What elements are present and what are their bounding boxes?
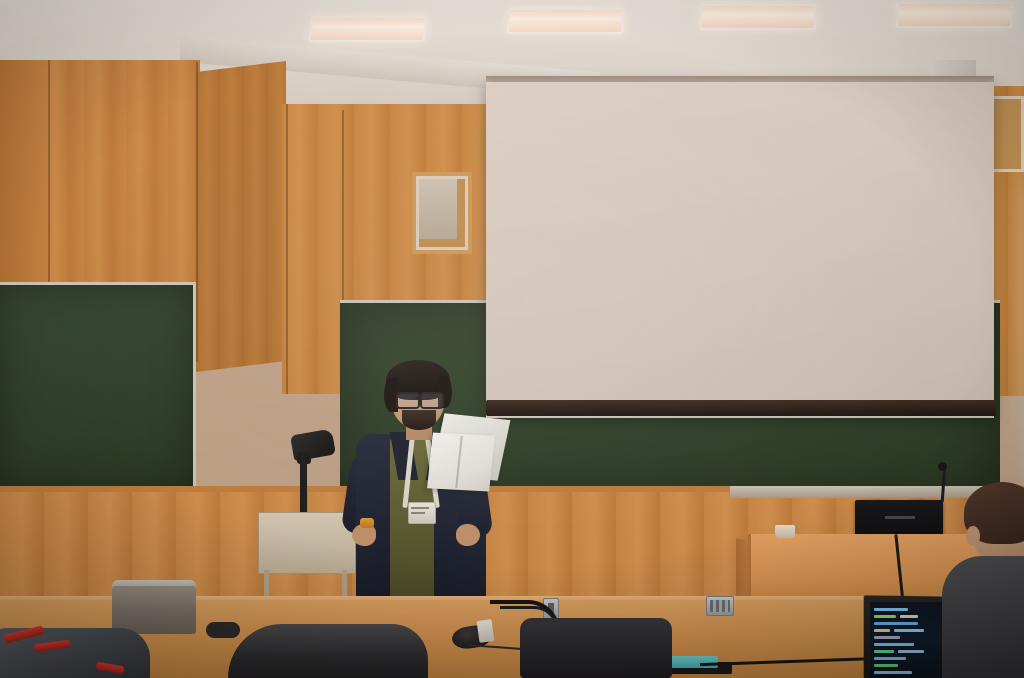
code-line bbox=[874, 608, 908, 611]
code-line bbox=[894, 629, 924, 632]
code-line bbox=[898, 650, 924, 653]
eyeglasses-lens-icon bbox=[396, 392, 420, 409]
screen-bottom-weight-bar bbox=[486, 400, 996, 416]
wall-panel-seam bbox=[196, 62, 198, 362]
seated-attendee bbox=[946, 486, 1024, 678]
wall-speaker-grille bbox=[419, 179, 457, 239]
attendee-ear bbox=[966, 526, 980, 546]
chair-back-left bbox=[228, 624, 428, 678]
presentation-clicker bbox=[360, 518, 374, 528]
attendee-torso bbox=[942, 556, 1024, 678]
wall-panel-seam bbox=[286, 104, 288, 394]
paper-cup bbox=[775, 525, 795, 538]
chalkboard-left bbox=[0, 282, 196, 496]
projection-screen: SRA OSS,INC. Outline ▪ Introduction – Vi… bbox=[486, 82, 994, 418]
presenter-beard bbox=[402, 410, 436, 430]
code-line bbox=[874, 629, 890, 632]
wall-outlet-panel bbox=[706, 596, 734, 616]
waste-bin bbox=[112, 586, 196, 634]
code-line bbox=[874, 657, 906, 660]
eyeglasses-lens-icon bbox=[420, 392, 444, 409]
wood-wall-panel-corner bbox=[196, 61, 286, 372]
badge-text-line bbox=[411, 507, 429, 509]
code-line bbox=[874, 622, 918, 625]
eyeglasses-bridge bbox=[416, 397, 421, 399]
ceiling-light-fixture bbox=[896, 2, 1012, 28]
badge-text-line bbox=[411, 512, 425, 514]
ceiling-light-fixture bbox=[309, 16, 428, 42]
presenter-right-hand bbox=[456, 524, 480, 546]
code-line bbox=[874, 664, 898, 667]
monitor-screen-glow bbox=[885, 516, 915, 519]
device-stand-post bbox=[300, 460, 307, 514]
small-object-on-floor bbox=[206, 622, 240, 638]
code-line bbox=[874, 636, 900, 639]
chair-back-center bbox=[520, 618, 672, 678]
desk-microphone-collar bbox=[477, 619, 495, 643]
code-line bbox=[874, 671, 912, 674]
code-line bbox=[900, 615, 918, 618]
ceiling-light-fixture bbox=[507, 8, 625, 34]
microphone-head-icon bbox=[938, 462, 947, 471]
code-line bbox=[874, 650, 894, 653]
presentation-photo-scene: SRA OSS,INC. Outline ▪ Introduction – Vi… bbox=[0, 0, 1024, 678]
code-line bbox=[874, 615, 896, 618]
ceiling-light-fixture bbox=[700, 4, 817, 30]
code-line bbox=[874, 643, 914, 646]
laptop-terminal-screen bbox=[870, 602, 950, 678]
